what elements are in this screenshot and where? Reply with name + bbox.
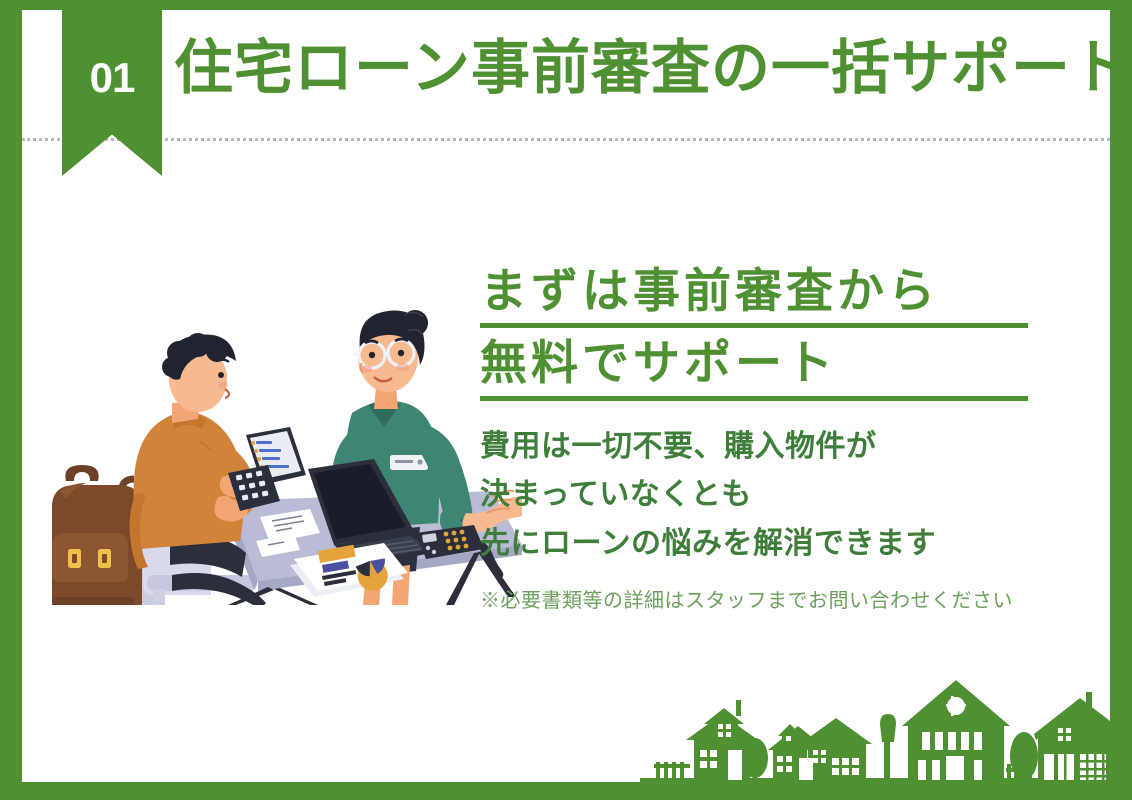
- headline-line-1: まずは事前審査から: [480, 262, 1028, 328]
- house-skyline-silhouette: [640, 670, 1110, 790]
- body-copy-line-1: 費用は一切不要、購入物件が: [480, 423, 1100, 472]
- section-number-ribbon: 01: [62, 10, 162, 176]
- footnote: ※必要書類等の詳細はスタッフまでお問い合わせください: [480, 584, 1100, 613]
- slide-root: 01 住宅ローン事前審査の一括サポート: [0, 0, 1132, 800]
- body-copy-line-2: 決まっていなくとも: [480, 471, 1100, 520]
- body-copy-line-3: 先にローンの悩みを解消できます: [480, 520, 1100, 569]
- section-number-label: 01: [90, 57, 135, 99]
- headline-line-2: 無料でサポート: [480, 334, 1028, 400]
- body-copy: 費用は一切不要、購入物件が 決まっていなくとも 先にローンの悩みを解消できます: [480, 423, 1100, 569]
- headline: まずは事前審査から 無料でサポート: [480, 262, 1100, 401]
- slide-inner-canvas: 01 住宅ローン事前審査の一括サポート: [22, 10, 1110, 782]
- page-title: 住宅ローン事前審査の一括サポート: [174, 36, 1131, 101]
- header-divider: [22, 138, 1110, 141]
- copy-block: まずは事前審査から 無料でサポート 費用は一切不要、購入物件が 決まっていなくと…: [480, 262, 1100, 613]
- loan-consultation-illustration: [22, 245, 522, 605]
